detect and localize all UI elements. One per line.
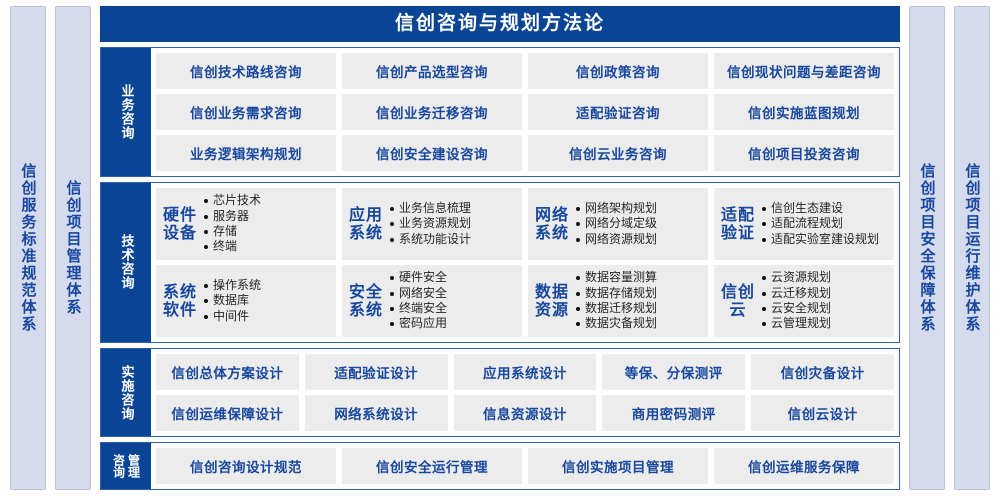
card-item-text: 数据容量测算 xyxy=(585,270,657,285)
pill-item[interactable]: 信创现状问题与差距咨询 xyxy=(714,53,894,89)
card-items: 硬件安全 网络安全 终端安全 密码应用 xyxy=(390,270,516,331)
pill-row: 信创运维保障设计 网络系统设计 信息资源设计 商用密码测评 信创云设计 xyxy=(156,395,894,431)
bullet-icon xyxy=(762,292,766,296)
card-item: 适配流程规划 xyxy=(762,216,888,231)
band-label-text: 实施咨询 xyxy=(120,365,133,421)
bullet-icon xyxy=(762,238,766,242)
bullet-icon xyxy=(576,276,580,280)
card-hardware-devices[interactable]: 硬件 设备 芯片技术 服务器 存储 终端 xyxy=(156,188,336,260)
card-item-text: 终端安全 xyxy=(399,301,447,316)
card-item: 数据迁移规划 xyxy=(576,301,702,316)
card-network-system[interactable]: 网络 系统 网络架构规划 网络分域定级 网络资源规划 xyxy=(528,188,708,260)
card-item: 数据容量测算 xyxy=(576,270,702,285)
band-label-implementation-consulting: 实施咨询 xyxy=(101,349,151,436)
bullet-icon xyxy=(204,230,208,234)
bullet-icon xyxy=(204,284,208,288)
card-items: 云资源规划 云迁移规划 云安全规划 云管理规划 xyxy=(762,270,888,331)
card-item: 芯片技术 xyxy=(204,193,330,208)
band-body-consulting-management: 信创咨询设计规范 信创安全运行管理 信创实施项目管理 信创运维服务保障 xyxy=(151,443,899,489)
band-body-business-consulting: 信创技术路线咨询 信创产品选型咨询 信创政策咨询 信创现状问题与差距咨询 信创业… xyxy=(151,48,899,176)
card-item: 云安全规划 xyxy=(762,301,888,316)
pill-item[interactable]: 信创项目投资咨询 xyxy=(714,135,894,171)
card-row: 硬件 设备 芯片技术 服务器 存储 终端 应用 系统 业务信息梳理 xyxy=(156,188,894,260)
card-item: 中间件 xyxy=(204,309,330,324)
card-item: 网络分域定级 xyxy=(576,216,702,231)
card-item-text: 终端 xyxy=(213,239,237,254)
bullet-icon xyxy=(390,292,394,296)
bullet-icon xyxy=(576,222,580,226)
pillar-label: 信创项目运行维护体系 xyxy=(965,163,980,333)
band-label-consulting-management: 咨询 管理 xyxy=(101,443,151,489)
bullet-icon xyxy=(390,322,394,326)
band-label-text-right: 管理 xyxy=(128,454,140,478)
card-title: 系统 软件 xyxy=(162,283,198,319)
bullet-icon xyxy=(390,207,394,211)
card-application-system[interactable]: 应用 系统 业务信息梳理 业务资源规划 系统功能设计 xyxy=(342,188,522,260)
card-item: 操作系统 xyxy=(204,278,330,293)
pill-item[interactable]: 信创技术路线咨询 xyxy=(156,53,336,89)
card-item-text: 数据库 xyxy=(213,293,249,308)
bullet-icon xyxy=(390,222,394,226)
pill-row: 信创业务需求咨询 信创业务迁移咨询 适配验证咨询 信创实施蓝图规划 xyxy=(156,94,894,130)
pill-item[interactable]: 信创政策咨询 xyxy=(528,53,708,89)
pillar-label: 信创服务标准规范体系 xyxy=(21,163,36,333)
card-item-text: 网络分域定级 xyxy=(585,216,657,231)
bullet-icon xyxy=(576,207,580,211)
card-item: 数据灾备规划 xyxy=(576,316,702,331)
card-item-text: 业务资源规划 xyxy=(399,216,471,231)
card-item-text: 信创生态建设 xyxy=(771,201,843,216)
card-item-text: 服务器 xyxy=(213,209,249,224)
pill-row: 信创总体方案设计 适配验证设计 应用系统设计 等保、分保测评 信创灾备设计 xyxy=(156,354,894,390)
pill-item[interactable]: 信创实施蓝图规划 xyxy=(714,94,894,130)
bullet-icon xyxy=(390,238,394,242)
band-label-business-consulting: 业务咨询 xyxy=(101,48,151,176)
diagram-root: 信创服务标准规范体系 信创项目管理体系 信创咨询与规划方法论 业务咨询 信创技术… xyxy=(0,0,1000,496)
card-system-software[interactable]: 系统 软件 操作系统 数据库 中间件 xyxy=(156,265,336,337)
card-item: 云管理规划 xyxy=(762,316,888,331)
pill-item[interactable]: 信创云业务咨询 xyxy=(528,135,708,171)
card-item: 网络资源规划 xyxy=(576,232,702,247)
card-item-text: 适配流程规划 xyxy=(771,216,843,231)
pill-item[interactable]: 应用系统设计 xyxy=(454,354,597,390)
card-item: 系统功能设计 xyxy=(390,232,516,247)
card-item-text: 系统功能设计 xyxy=(399,232,471,247)
card-item: 信创生态建设 xyxy=(762,201,888,216)
card-security-system[interactable]: 安全 系统 硬件安全 网络安全 终端安全 密码应用 xyxy=(342,265,522,337)
pillar-project-management-system: 信创项目管理体系 xyxy=(55,6,91,490)
card-item: 服务器 xyxy=(204,209,330,224)
card-adaptation-verification[interactable]: 适配 验证 信创生态建设 适配流程规划 适配实验室建设规划 xyxy=(714,188,894,260)
card-items: 信创生态建设 适配流程规划 适配实验室建设规划 xyxy=(762,201,888,247)
bullet-icon xyxy=(390,307,394,311)
band-implementation-consulting: 实施咨询 信创总体方案设计 适配验证设计 应用系统设计 等保、分保测评 信创灾备… xyxy=(100,348,900,437)
pill-item[interactable]: 信创云设计 xyxy=(751,395,894,431)
pillar-project-security-system: 信创项目安全保障体系 xyxy=(909,6,945,490)
pill-item[interactable]: 信息资源设计 xyxy=(454,395,597,431)
pill-row: 信创咨询设计规范 信创安全运行管理 信创实施项目管理 信创运维服务保障 xyxy=(156,448,894,484)
pill-item[interactable]: 信创运维服务保障 xyxy=(714,448,894,484)
card-items: 业务信息梳理 业务资源规划 系统功能设计 xyxy=(390,201,516,247)
card-item: 硬件安全 xyxy=(390,270,516,285)
pill-item[interactable]: 信创咨询设计规范 xyxy=(156,448,336,484)
band-label-text-left: 咨询 xyxy=(113,454,125,478)
band-technical-consulting: 技术咨询 硬件 设备 芯片技术 服务器 存储 终端 xyxy=(100,182,900,343)
card-title: 信创 云 xyxy=(720,283,756,319)
pill-item[interactable]: 信创安全运行管理 xyxy=(342,448,522,484)
pill-row: 业务逻辑架构规划 信创安全建设咨询 信创云业务咨询 信创项目投资咨询 xyxy=(156,135,894,171)
card-item-text: 云资源规划 xyxy=(771,270,831,285)
bullet-icon xyxy=(204,299,208,303)
pill-item[interactable]: 等保、分保测评 xyxy=(602,354,745,390)
band-body-technical-consulting: 硬件 设备 芯片技术 服务器 存储 终端 应用 系统 业务信息梳理 xyxy=(151,183,899,342)
card-row: 系统 软件 操作系统 数据库 中间件 安全 系统 硬件安全 网络安全 xyxy=(156,265,894,337)
band-stack: 业务咨询 信创技术路线咨询 信创产品选型咨询 信创政策咨询 信创现状问题与差距咨… xyxy=(100,47,900,490)
card-item-text: 中间件 xyxy=(213,309,249,324)
bullet-icon xyxy=(576,292,580,296)
card-item-text: 操作系统 xyxy=(213,278,261,293)
bullet-icon xyxy=(762,322,766,326)
card-item-text: 业务信息梳理 xyxy=(399,201,471,216)
bullet-icon xyxy=(762,307,766,311)
card-title: 硬件 设备 xyxy=(162,206,198,242)
bullet-icon xyxy=(204,215,208,219)
pillar-label: 信创项目管理体系 xyxy=(66,180,81,316)
card-item: 云资源规划 xyxy=(762,270,888,285)
pill-item[interactable]: 信创灾备设计 xyxy=(751,354,894,390)
card-items: 操作系统 数据库 中间件 xyxy=(204,278,330,324)
pill-item[interactable]: 信创产品选型咨询 xyxy=(342,53,522,89)
card-title: 安全 系统 xyxy=(348,283,384,319)
card-items: 网络架构规划 网络分域定级 网络资源规划 xyxy=(576,201,702,247)
pill-item[interactable]: 信创业务需求咨询 xyxy=(156,94,336,130)
card-item-text: 数据灾备规划 xyxy=(585,316,657,331)
card-item-text: 网络资源规划 xyxy=(585,232,657,247)
bullet-icon xyxy=(204,245,208,249)
pill-item[interactable]: 适配验证设计 xyxy=(305,354,448,390)
band-consulting-management: 咨询 管理 信创咨询设计规范 信创安全运行管理 信创实施项目管理 信创运维服务保… xyxy=(100,442,900,490)
card-title: 应用 系统 xyxy=(348,206,384,242)
card-items: 数据容量测算 数据存储规划 数据迁移规划 数据灾备规划 xyxy=(576,270,702,331)
bullet-icon xyxy=(576,322,580,326)
card-item-text: 密码应用 xyxy=(399,316,447,331)
card-item: 数据库 xyxy=(204,293,330,308)
band-business-consulting: 业务咨询 信创技术路线咨询 信创产品选型咨询 信创政策咨询 信创现状问题与差距咨… xyxy=(100,47,900,177)
card-xinchuang-cloud[interactable]: 信创 云 云资源规划 云迁移规划 云安全规划 云管理规划 xyxy=(714,265,894,337)
card-item-text: 数据存储规划 xyxy=(585,286,657,301)
card-item-text: 云管理规划 xyxy=(771,316,831,331)
pill-item[interactable]: 商用密码测评 xyxy=(602,395,745,431)
card-title: 数据 资源 xyxy=(534,283,570,319)
center-column: 信创咨询与规划方法论 业务咨询 信创技术路线咨询 信创产品选型咨询 信创政策咨询… xyxy=(100,6,900,490)
pill-item[interactable]: 信创运维保障设计 xyxy=(156,395,299,431)
page-title: 信创咨询与规划方法论 xyxy=(100,6,900,42)
band-label-text: 业务咨询 xyxy=(120,84,133,140)
card-item: 网络架构规划 xyxy=(576,201,702,216)
pill-item[interactable]: 业务逻辑架构规划 xyxy=(156,135,336,171)
band-label-text: 技术咨询 xyxy=(120,234,133,290)
pill-row: 信创技术路线咨询 信创产品选型咨询 信创政策咨询 信创现状问题与差距咨询 xyxy=(156,53,894,89)
bullet-icon xyxy=(390,276,394,280)
pillar-label: 信创项目安全保障体系 xyxy=(920,163,935,333)
bullet-icon xyxy=(204,315,208,319)
pillar-service-standard-system: 信创服务标准规范体系 xyxy=(10,6,46,490)
card-item-text: 网络安全 xyxy=(399,286,447,301)
pill-item[interactable]: 信创总体方案设计 xyxy=(156,354,299,390)
card-item: 适配实验室建设规划 xyxy=(762,232,888,247)
pill-item[interactable]: 信创安全建设咨询 xyxy=(342,135,522,171)
card-item: 密码应用 xyxy=(390,316,516,331)
bullet-icon xyxy=(762,276,766,280)
card-item-text: 硬件安全 xyxy=(399,270,447,285)
card-item: 云迁移规划 xyxy=(762,286,888,301)
bullet-icon xyxy=(204,199,208,203)
pillar-project-operation-system: 信创项目运行维护体系 xyxy=(954,6,990,490)
card-item: 业务信息梳理 xyxy=(390,201,516,216)
pill-item[interactable]: 网络系统设计 xyxy=(305,395,448,431)
bullet-icon xyxy=(576,307,580,311)
card-item: 终端安全 xyxy=(390,301,516,316)
card-item: 数据存储规划 xyxy=(576,286,702,301)
card-item: 存储 xyxy=(204,224,330,239)
card-item-text: 芯片技术 xyxy=(213,193,261,208)
pill-item[interactable]: 信创业务迁移咨询 xyxy=(342,94,522,130)
band-label-technical-consulting: 技术咨询 xyxy=(101,183,151,342)
bullet-icon xyxy=(762,222,766,226)
card-item: 网络安全 xyxy=(390,286,516,301)
card-item-text: 存储 xyxy=(213,224,237,239)
band-body-implementation-consulting: 信创总体方案设计 适配验证设计 应用系统设计 等保、分保测评 信创灾备设计 信创… xyxy=(151,349,899,436)
card-title: 网络 系统 xyxy=(534,206,570,242)
card-items: 芯片技术 服务器 存储 终端 xyxy=(204,193,330,254)
card-item: 业务资源规划 xyxy=(390,216,516,231)
card-item-text: 云迁移规划 xyxy=(771,286,831,301)
card-item: 终端 xyxy=(204,239,330,254)
card-item-text: 云安全规划 xyxy=(771,301,831,316)
card-data-resource[interactable]: 数据 资源 数据容量测算 数据存储规划 数据迁移规划 数据灾备规划 xyxy=(528,265,708,337)
card-item-text: 数据迁移规划 xyxy=(585,301,657,316)
bullet-icon xyxy=(576,238,580,242)
bullet-icon xyxy=(762,207,766,211)
pill-item[interactable]: 适配验证咨询 xyxy=(528,94,708,130)
card-item-text: 网络架构规划 xyxy=(585,201,657,216)
card-title: 适配 验证 xyxy=(720,206,756,242)
card-item-text: 适配实验室建设规划 xyxy=(771,232,879,247)
pill-item[interactable]: 信创实施项目管理 xyxy=(528,448,708,484)
